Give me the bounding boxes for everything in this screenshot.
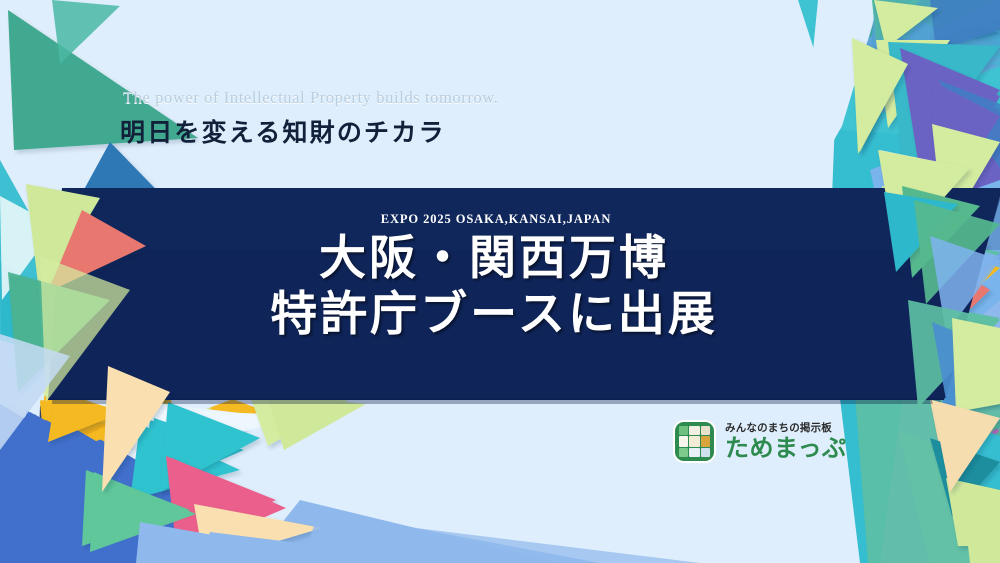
board-tile-2 (689, 426, 699, 435)
logo-text-block: みんなのまちの掲示板 ためまっぷ (725, 423, 847, 461)
bulletin-board-icon (673, 420, 716, 463)
tagline-japanese: 明日を変える知財のチカラ (120, 113, 680, 149)
board-tile-9 (701, 448, 710, 457)
expo-banner: EXPO 2025 OSAKA,KANSAI,JAPAN 大阪・関西万博 特許庁… (0, 188, 1000, 404)
board-tile-3 (701, 426, 710, 435)
board-tile-1 (679, 426, 688, 435)
logo-subtitle: みんなのまちの掲示板 (725, 423, 847, 434)
board-tile-6 (701, 436, 710, 447)
board-tile-8 (689, 448, 699, 457)
expo-eyebrow-text: EXPO 2025 OSAKA,KANSAI,JAPAN (381, 212, 612, 227)
banner-content: EXPO 2025 OSAKA,KANSAI,JAPAN 大阪・関西万博 特許庁… (0, 188, 1000, 404)
tagline-english: The power of Intellectual Property build… (123, 88, 680, 108)
tamemap-logo[interactable]: みんなのまちの掲示板 ためまっぷ (673, 420, 847, 463)
board-tile-7 (679, 448, 688, 457)
banner-headline-line1: 大阪・関西万博 (319, 233, 669, 286)
poster-canvas: The power of Intellectual Property build… (0, 0, 1000, 563)
bulletin-board-tiles (679, 426, 710, 457)
banner-headline-line2: 特許庁ブースに出展 (270, 286, 718, 343)
board-tile-5 (689, 436, 699, 447)
board-tile-4 (679, 436, 688, 447)
logo-wordmark: ためまっぷ (725, 436, 847, 460)
tagline-block: The power of Intellectual Property build… (120, 88, 680, 149)
